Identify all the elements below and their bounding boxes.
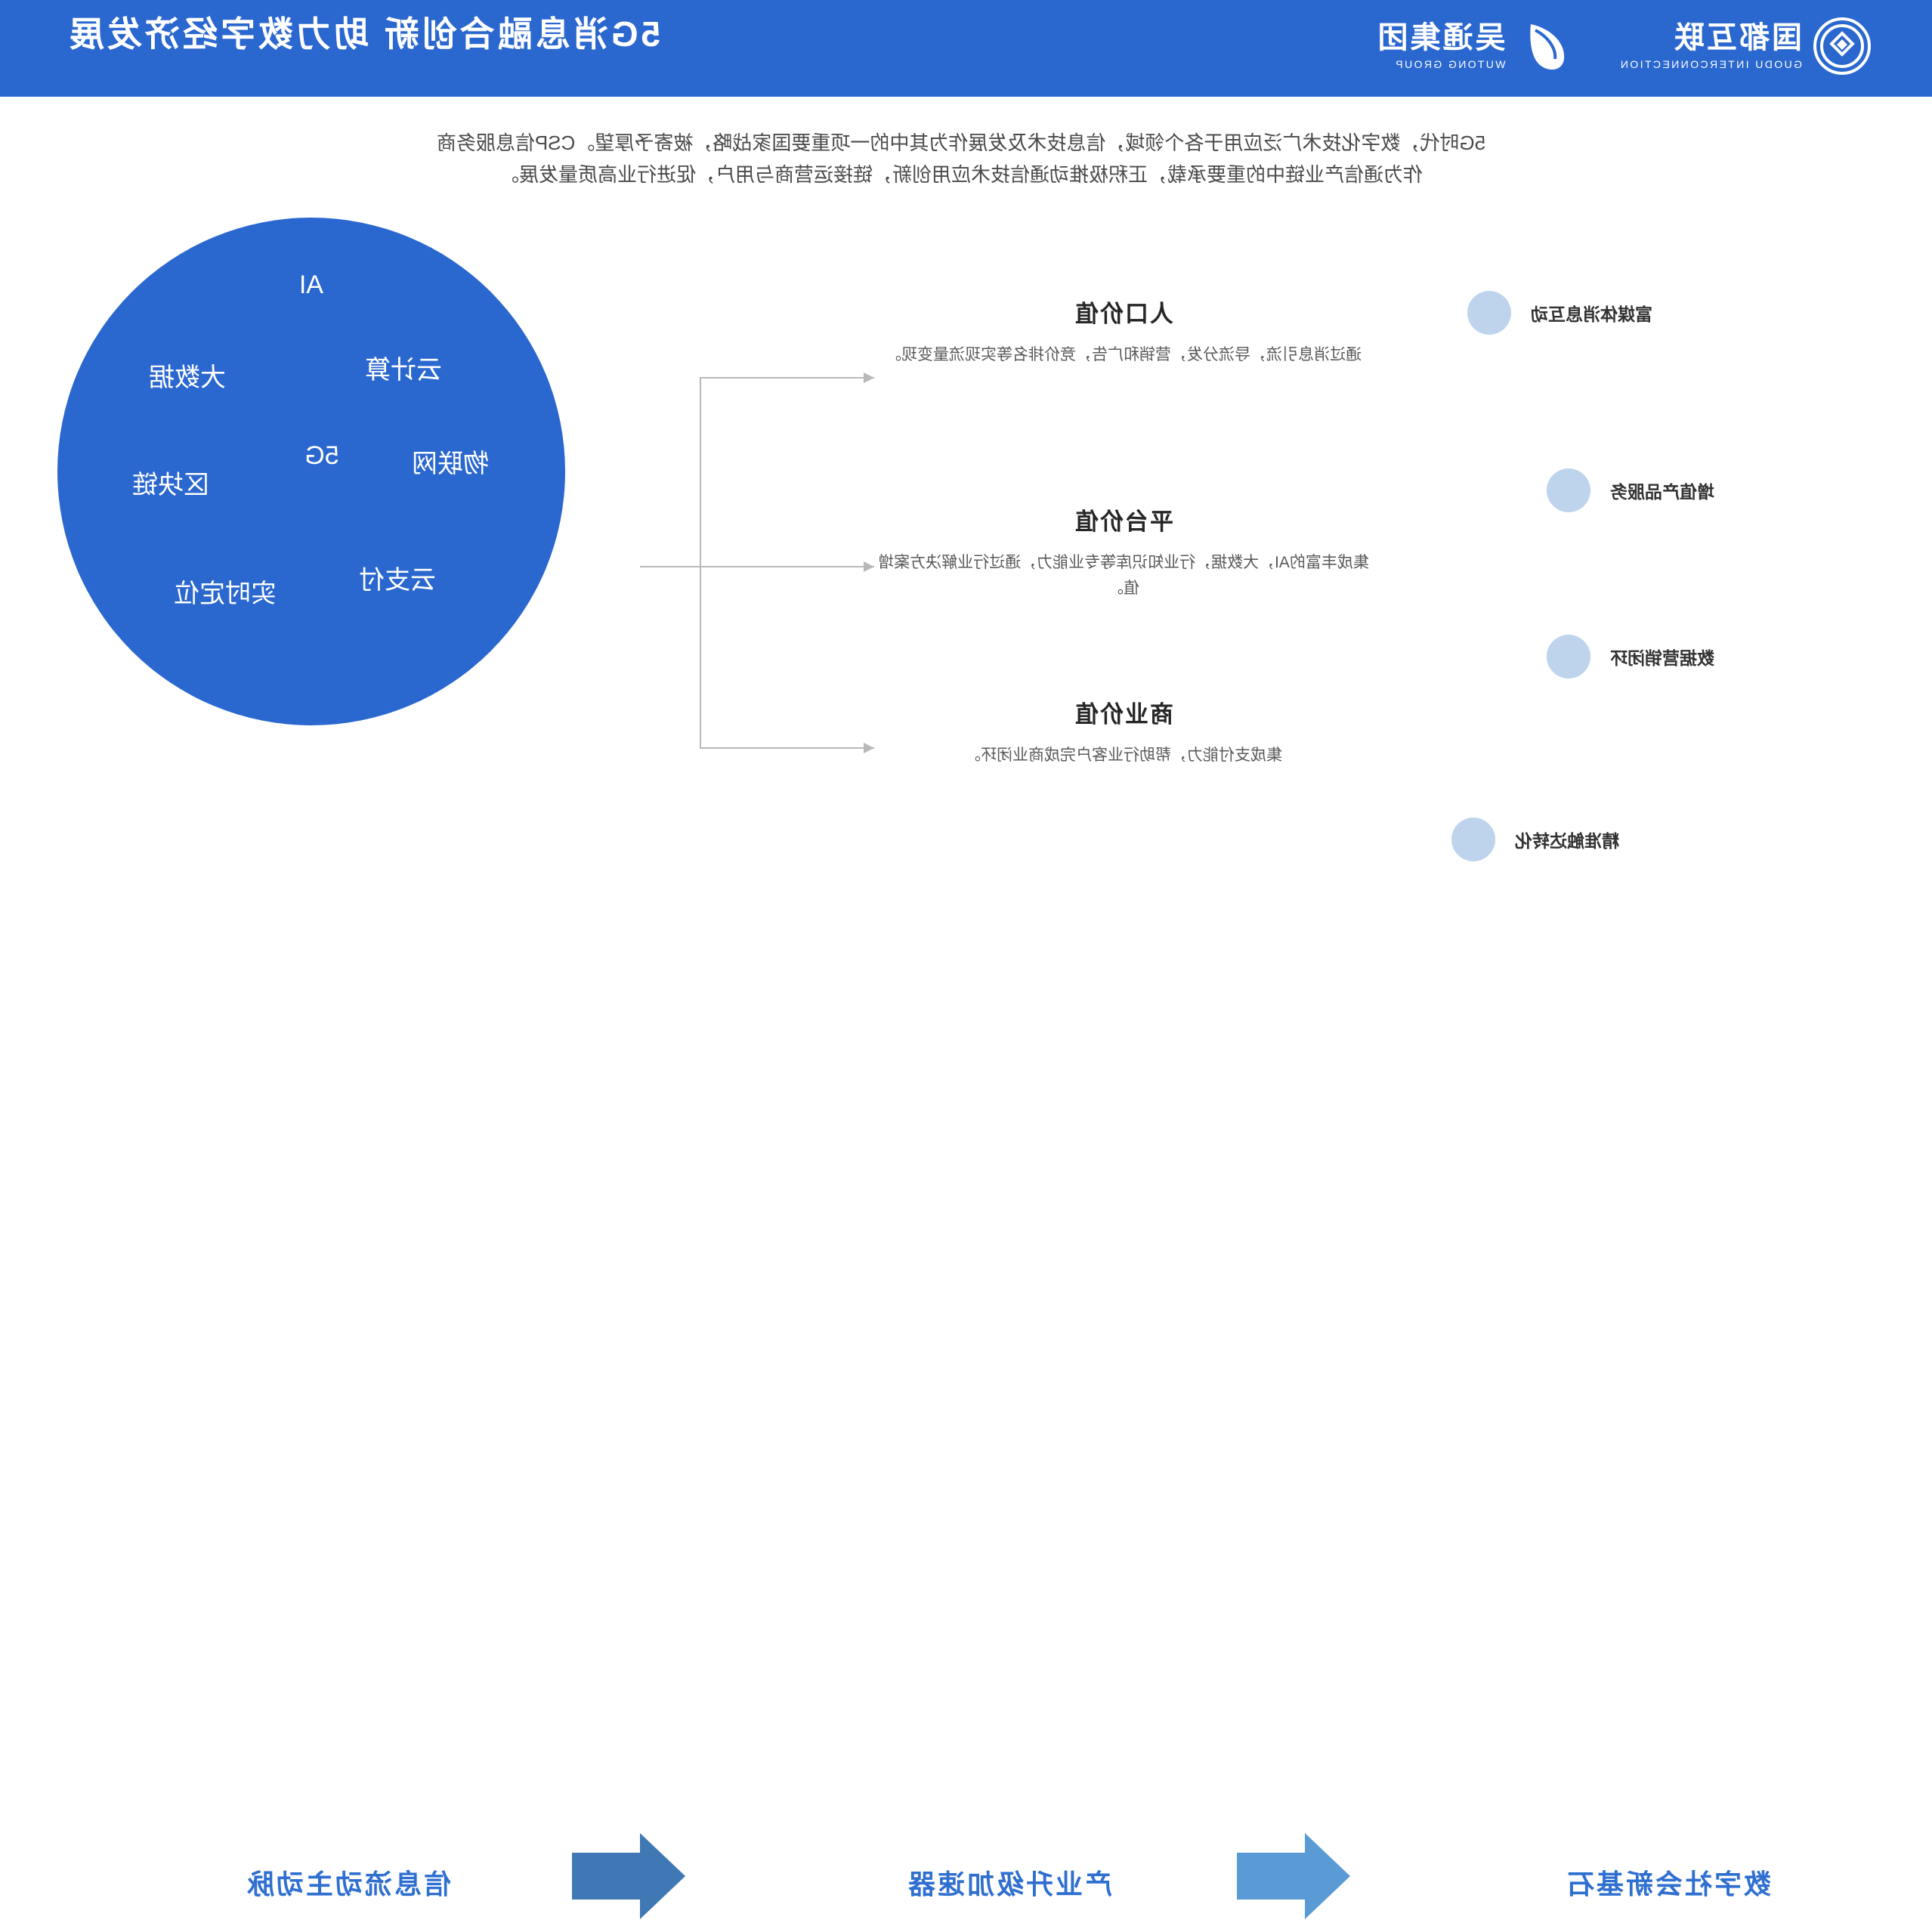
tech-tag-bigdata: 大数据 (149, 357, 226, 394)
feature-dot-icon (1547, 468, 1590, 512)
value-desc: 通过消息引流，导流分发，营销和广告，竞价排名等实现流量变现。 (874, 342, 1373, 368)
tech-tag-iot: 物联网 (412, 443, 489, 480)
value-block-population: 人口价值 通过消息引流，导流分发，营销和广告，竞价排名等实现流量变现。 (874, 295, 1373, 368)
diamond-badge-icon (1813, 17, 1872, 76)
feature-dot-icon (1451, 818, 1495, 861)
bottom-banner: 数字社会新基石 产业升级加速器 信息流动主动脉 (0, 907, 1932, 1043)
feature-label: 精准触达转化 (1515, 827, 1619, 852)
page-title: 5G消息融合创新 助力数字经济发展 (66, 12, 660, 57)
slide-header: 国都互联 GUODU INTERCONNECTION 吴通集团 WUTONG G… (0, 0, 1932, 97)
tech-tag-cloud-pay: 云支付 (359, 559, 436, 596)
feature-dot-icon (1547, 635, 1590, 679)
intro-line-2: 作为通信产业链中的重要承载，正积极推动通信技术应用创新，链接运营商与用户，促进行… (119, 159, 1804, 190)
feature-label: 数据营销闭环 (1610, 644, 1714, 669)
feature-item-value-added: 增值产品服务 (1547, 468, 1714, 512)
technology-circle: AI 云计算 大数据 物联网 5G 区块链 云支付 实时定位 (57, 218, 565, 725)
arrow-left-icon (1237, 1827, 1350, 1929)
feature-item-rich-media: 富媒体消息互动 (1467, 291, 1652, 335)
value-title: 人口价值 (874, 295, 1373, 329)
intro-line-1: 5G时代，数字化技术广泛应用于各个领域，信息技术及发展作为其中的一项重要国家战略… (119, 127, 1804, 159)
tech-tag-cloud: 云计算 (365, 349, 442, 386)
value-desc: 集成支付能力，帮助行业客户完成商业闭环。 (874, 743, 1373, 768)
value-title: 平台价值 (874, 502, 1373, 536)
value-title: 商业价值 (874, 695, 1373, 729)
feature-label: 富媒体消息互动 (1531, 300, 1652, 326)
logo-guodu: 国都互联 GUODU INTERCONNECTION (1618, 17, 1872, 76)
feature-label: 增值产品服务 (1610, 478, 1714, 503)
tech-tag-realtime-location: 实时定位 (174, 573, 277, 610)
leaf-swirl-icon (1516, 17, 1575, 76)
logo-group: 国都互联 GUODU INTERCONNECTION 吴通集团 WUTONG G… (1375, 17, 1872, 76)
logo-wutong: 吴通集团 WUTONG GROUP (1375, 17, 1575, 76)
arrow-right-icon (572, 1827, 685, 1929)
banner-item-industry-accelerator: 产业升级加速器 (906, 1863, 1112, 1902)
logo-wutong-cn: 吴通集团 (1375, 23, 1505, 53)
feature-item-precise-reach: 精准触达转化 (1451, 818, 1619, 861)
logo-guodu-en: GUODU INTERCONNECTION (1618, 59, 1802, 70)
feature-dot-icon (1467, 291, 1511, 335)
value-desc: 集成丰富的AI，大数据，行业知识库等专业能力，通过行业解决方案增值。 (874, 550, 1373, 601)
intro-paragraph: 5G时代，数字化技术广泛应用于各个领域，信息技术及发展作为其中的一项重要国家战略… (119, 127, 1804, 190)
feature-item-data-marketing: 数据营销闭环 (1547, 635, 1714, 679)
value-block-commercial: 商业价值 集成支付能力，帮助行业客户完成商业闭环。 (874, 695, 1373, 768)
tech-tag-5g: 5G (304, 441, 338, 471)
banner-item-digital-foundation: 数字社会新基石 (1565, 1863, 1771, 1902)
banner-item-information-artery: 信息流动主动脉 (245, 1863, 451, 1902)
logo-guodu-cn: 国都互联 (1618, 23, 1802, 53)
value-block-platform: 平台价值 集成丰富的AI，大数据，行业知识库等专业能力，通过行业解决方案增值。 (874, 502, 1373, 601)
connector-lines (640, 355, 889, 778)
tech-tag-ai: AI (299, 270, 323, 300)
logo-wutong-en: WUTONG GROUP (1375, 59, 1505, 70)
tech-tag-blockchain: 区块链 (132, 464, 209, 501)
